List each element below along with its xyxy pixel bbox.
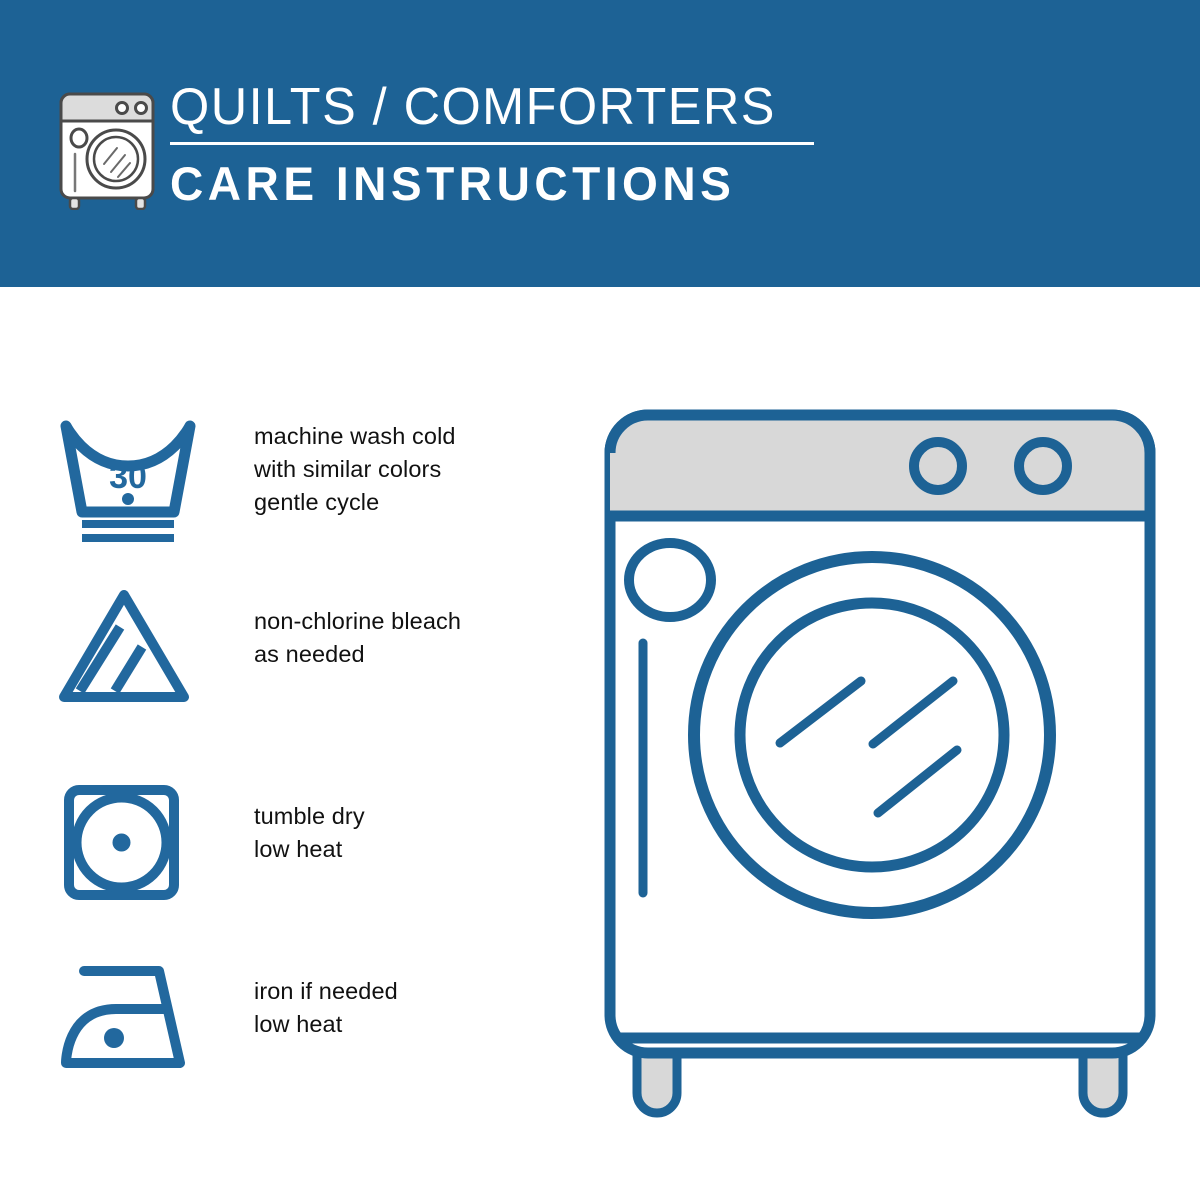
care-text-wash: machine wash cold with similar colors ge… <box>254 420 544 519</box>
care-text-iron: iron if needed low heat <box>254 975 544 1041</box>
non-chlorine-bleach-triangle-icon <box>58 587 198 712</box>
wash-basin-30-gentle-icon: 30 <box>58 420 198 545</box>
care-line: tumble dry <box>254 800 544 833</box>
care-text-tumble-dry: tumble dry low heat <box>254 800 544 866</box>
care-symbol-list: 30 machine wash cold with similar colors… <box>0 287 560 1200</box>
front-load-washing-machine-illustration <box>580 398 1180 1128</box>
header-banner: QUILTS / COMFORTERS CARE INSTRUCTIONS <box>0 0 1200 287</box>
care-line: low heat <box>254 833 544 866</box>
washing-machine-icon <box>52 80 162 210</box>
care-line: as needed <box>254 638 544 671</box>
care-line: with similar colors <box>254 453 544 486</box>
page-title: QUILTS / COMFORTERS <box>170 78 810 136</box>
care-row-bleach: non-chlorine bleach as needed <box>0 587 560 737</box>
care-line: gentle cycle <box>254 486 544 519</box>
care-line: machine wash cold <box>254 420 544 453</box>
care-instructions-infographic: QUILTS / COMFORTERS CARE INSTRUCTIONS 30… <box>0 0 1200 1200</box>
care-line: low heat <box>254 1008 544 1041</box>
care-line: non-chlorine bleach <box>254 605 544 638</box>
page-subtitle: CARE INSTRUCTIONS <box>170 158 817 210</box>
care-row-wash: 30 machine wash cold with similar colors… <box>0 420 560 570</box>
care-row-iron: iron if needed low heat <box>0 957 560 1107</box>
tumble-dry-low-heat-icon <box>58 782 198 907</box>
wash-temperature-label: 30 <box>109 458 147 496</box>
title-divider <box>170 142 814 145</box>
care-text-bleach: non-chlorine bleach as needed <box>254 605 544 671</box>
care-row-tumble-dry: tumble dry low heat <box>0 782 560 932</box>
care-line: iron if needed <box>254 975 544 1008</box>
header-title-block: QUILTS / COMFORTERS CARE INSTRUCTIONS <box>170 78 830 210</box>
iron-low-heat-icon <box>58 957 198 1082</box>
